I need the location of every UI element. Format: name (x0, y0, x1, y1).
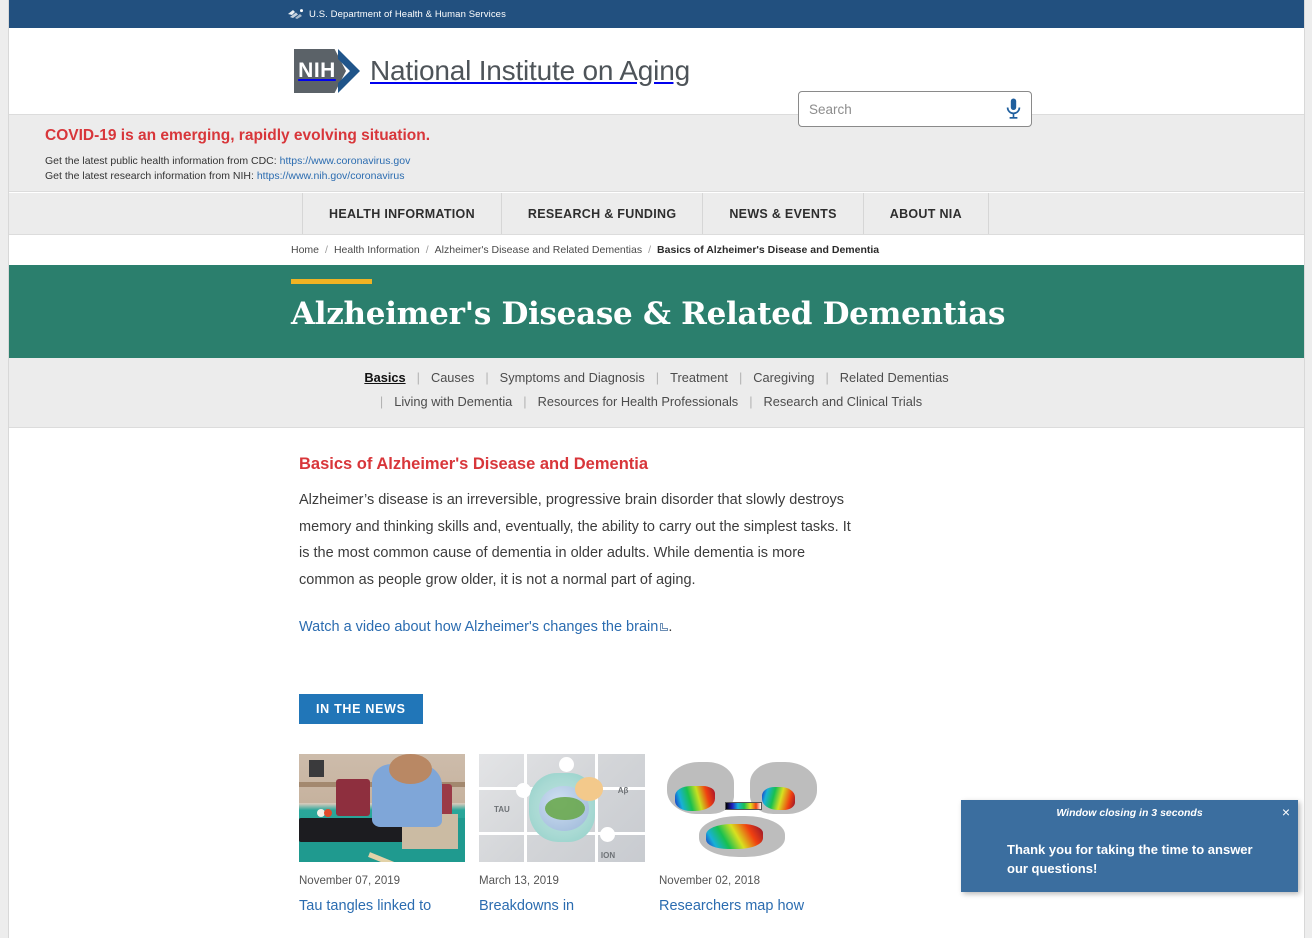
covid-cdc-link[interactable]: https://www.coronavirus.gov (280, 155, 411, 167)
section-subnav: Basics | Causes | Symptoms and Diagnosis… (9, 358, 1304, 428)
news-card[interactable]: TAU Aβ ION March 13, 2019 Breakdowns in (479, 754, 645, 917)
survey-popup-message: Thank you for taking the time to answer … (961, 826, 1298, 878)
subnav-item-basics[interactable]: Basics (353, 368, 416, 388)
breadcrumb: Home / Health Information / Alzheimer's … (9, 235, 1304, 265)
nav-item-research-and-funding[interactable]: RESEARCH & FUNDING (501, 193, 702, 234)
hhs-banner-text: U.S. Department of Health & Human Servic… (309, 9, 506, 20)
tau-amyloid-puzzle-illustration[interactable]: TAU Aβ ION (479, 754, 645, 862)
covid-nih-text: Get the latest research information from… (45, 170, 257, 182)
breadcrumb-item-home[interactable]: Home (291, 244, 319, 256)
covid-alert-title: COVID-19 is an emerging, rapidly evolvin… (45, 127, 1304, 145)
subnav-item-causes[interactable]: Causes (420, 368, 485, 388)
puzzle-label-tau: TAU (494, 805, 510, 814)
search-box[interactable] (798, 91, 1032, 127)
hero-banner: Alzheimer's Disease & Related Dementias (9, 265, 1304, 358)
subnav-item-research-and-clinical-trials[interactable]: Research and Clinical Trials (753, 392, 934, 412)
video-link[interactable]: Watch a video about how Alzheimer's chan… (299, 619, 658, 635)
news-card[interactable]: November 02, 2018 Researchers map how (659, 754, 825, 917)
hhs-eagle-logo (287, 7, 304, 21)
breadcrumb-separator: / (426, 244, 429, 256)
microphone-icon[interactable] (996, 92, 1031, 126)
subnav-item-symptoms-and-diagnosis[interactable]: Symptoms and Diagnosis (489, 368, 656, 388)
subnav-row-1: Basics | Causes | Symptoms and Diagnosis… (9, 368, 1304, 392)
news-card-title[interactable]: Breakdowns in (479, 896, 645, 917)
subnav-item-related-dementias[interactable]: Related Dementias (829, 368, 960, 388)
breadcrumb-item-health-information[interactable]: Health Information (334, 244, 420, 256)
nav-left-spacer (9, 193, 302, 234)
older-man-playing-pool-photo[interactable] (299, 754, 465, 862)
content-heading: Basics of Alzheimer's Disease and Dement… (299, 455, 1304, 474)
covid-alert-line-nih: Get the latest research information from… (45, 169, 1304, 184)
page-root: U.S. Department of Health & Human Servic… (8, 0, 1305, 938)
video-link-suffix: . (668, 619, 672, 635)
subnav-item-caregiving[interactable]: Caregiving (742, 368, 825, 388)
covid-alert: COVID-19 is an emerging, rapidly evolvin… (9, 114, 1304, 192)
news-card[interactable]: November 07, 2019 Tau tangles linked to (299, 754, 465, 917)
news-card-title[interactable]: Researchers map how (659, 896, 825, 917)
breadcrumb-separator: / (648, 244, 651, 256)
in-the-news-badge: IN THE NEWS (299, 694, 423, 724)
hero-accent-rule (291, 279, 372, 284)
news-card-date: November 02, 2018 (659, 875, 825, 887)
hhs-banner: U.S. Department of Health & Human Servic… (9, 0, 1304, 28)
nav-item-news-and-events[interactable]: NEWS & EVENTS (702, 193, 862, 234)
covid-nih-link[interactable]: https://www.nih.gov/coronavirus (257, 170, 405, 182)
breadcrumb-item-alzheimers[interactable]: Alzheimer's Disease and Related Dementia… (435, 244, 642, 256)
search-input[interactable] (799, 102, 996, 117)
main-navigation: HEALTH INFORMATION RESEARCH & FUNDING NE… (9, 193, 1304, 235)
external-link-icon (660, 623, 668, 631)
covid-cdc-text: Get the latest public health information… (45, 155, 280, 167)
nav-item-health-information[interactable]: HEALTH INFORMATION (302, 193, 501, 234)
subnav-row-2: | Living with Dementia | Resources for H… (9, 392, 1304, 416)
nih-logo: NIH (294, 49, 360, 93)
nav-item-about-nia[interactable]: ABOUT NIA (863, 193, 989, 234)
heatmap-colorbar (725, 802, 762, 810)
news-card-date: November 07, 2019 (299, 875, 465, 887)
subnav-item-resources-for-health-professionals[interactable]: Resources for Health Professionals (527, 392, 750, 412)
brain-heatmap-figure[interactable] (659, 754, 825, 862)
survey-timer-text: Window closing in 3 seconds (1056, 807, 1202, 819)
puzzle-label-abeta: Aβ (618, 786, 629, 795)
site-brand-name: National Institute on Aging (370, 55, 690, 87)
covid-alert-line-cdc: Get the latest public health information… (45, 154, 1304, 169)
survey-popup-header: Window closing in 3 seconds × (961, 800, 1298, 826)
page-scrollbar[interactable] (1305, 0, 1312, 938)
news-card-title[interactable]: Tau tangles linked to (299, 896, 465, 917)
survey-popup: Window closing in 3 seconds × Thank you … (961, 800, 1298, 892)
subnav-item-living-with-dementia[interactable]: Living with Dementia (383, 392, 523, 412)
site-logo-link[interactable]: NIH National Institute on Aging (294, 49, 690, 93)
content-video-line: Watch a video about how Alzheimer's chan… (299, 614, 852, 641)
puzzle-label-ion: ION (601, 851, 615, 860)
breadcrumb-item-current: Basics of Alzheimer's Disease and Dement… (657, 244, 879, 256)
site-masthead: NIH National Institute on Aging (9, 28, 1304, 114)
close-icon[interactable]: × (1282, 803, 1290, 821)
content-paragraph: Alzheimer’s disease is an irreversible, … (299, 487, 852, 593)
nih-logo-text: NIH (298, 59, 336, 83)
breadcrumb-separator: / (325, 244, 328, 256)
news-card-date: March 13, 2019 (479, 875, 645, 887)
nih-chevron-icon (336, 49, 360, 93)
page-title: Alzheimer's Disease & Related Dementias (291, 296, 1304, 332)
subnav-item-treatment[interactable]: Treatment (659, 368, 739, 388)
